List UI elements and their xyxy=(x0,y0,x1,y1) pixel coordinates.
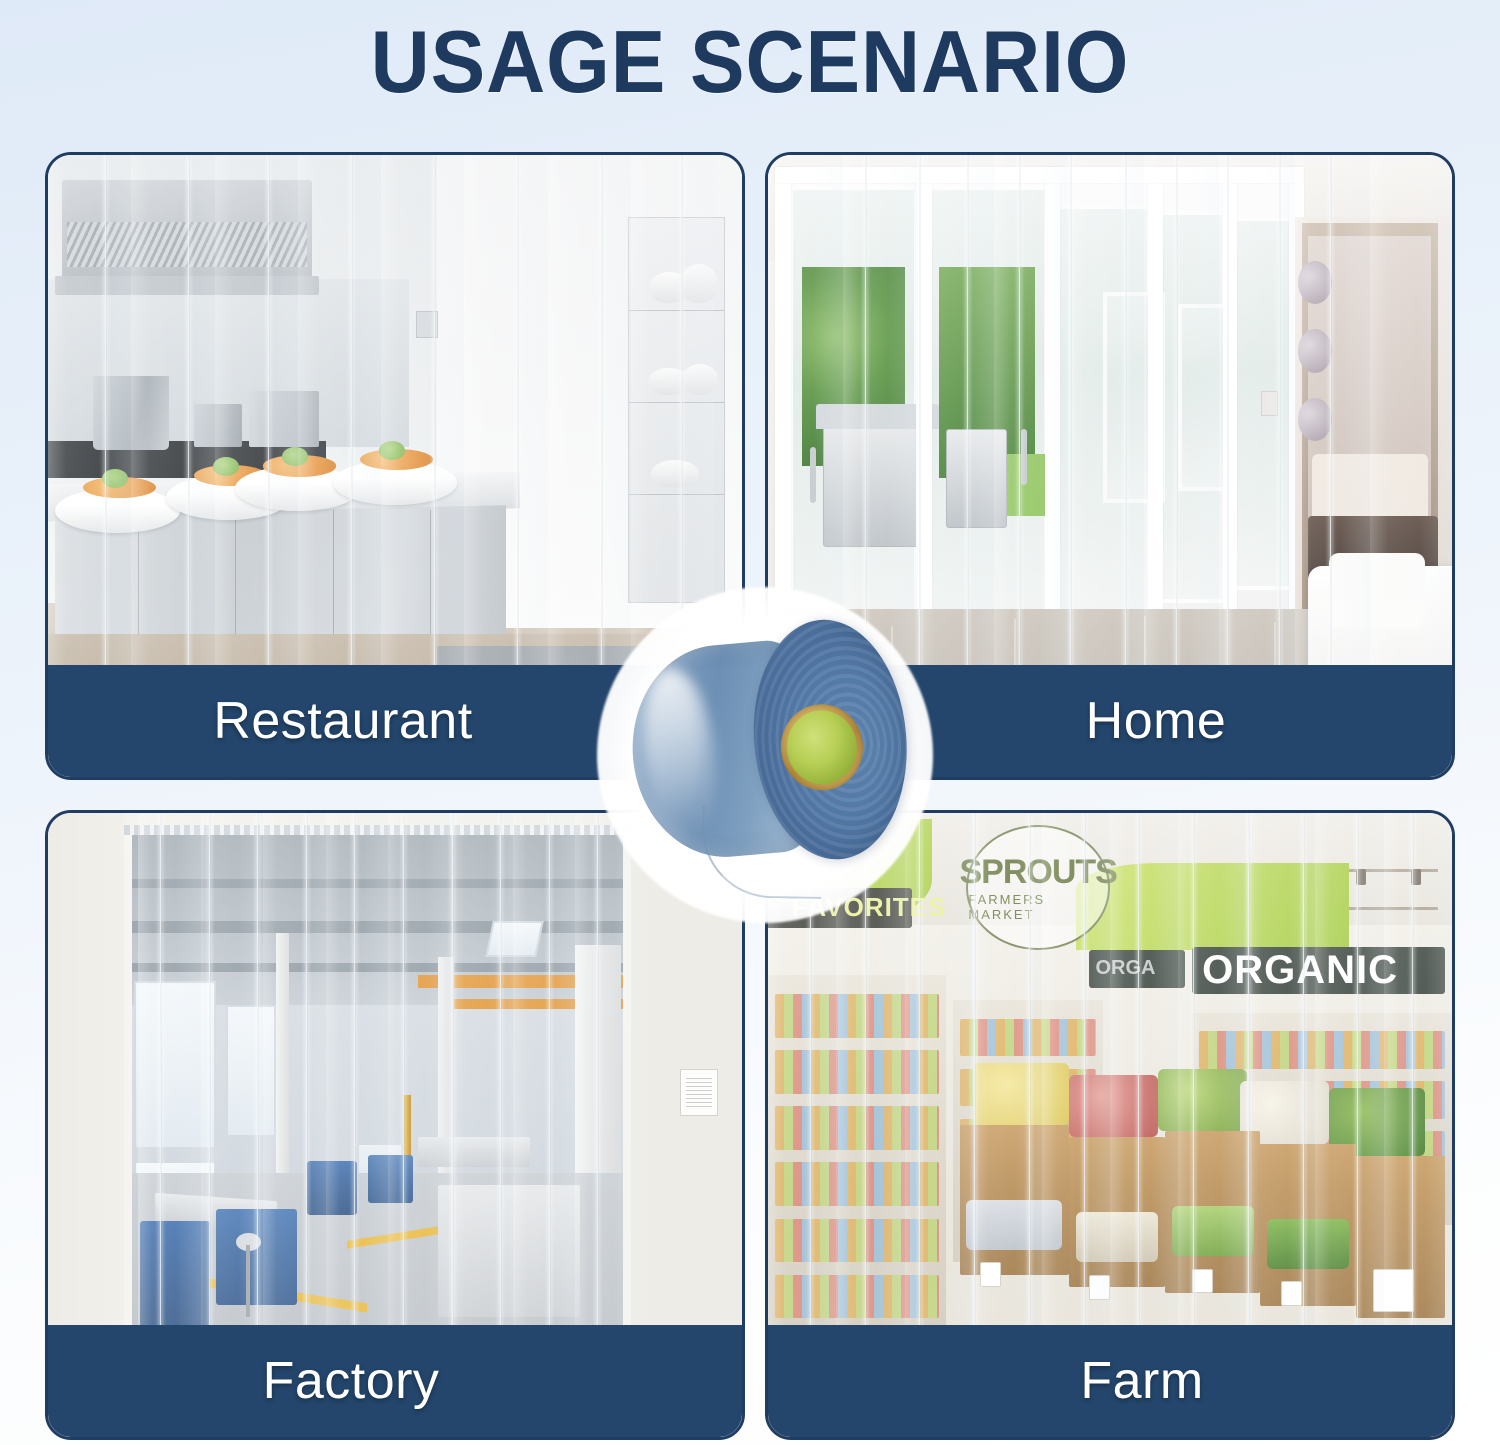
pvc-roll-icon xyxy=(622,606,914,897)
card-label-factory: Factory xyxy=(263,1351,440,1411)
page-title-container: USAGE SCENARIO xyxy=(0,14,1500,109)
card-label-bar-farm: Farm xyxy=(768,1325,1452,1437)
door-sticker-icon xyxy=(680,1069,718,1116)
page-title: USAGE SCENARIO xyxy=(53,14,1448,109)
card-label-farm: Farm xyxy=(1080,1351,1203,1411)
card-label-home: Home xyxy=(1086,691,1227,751)
farm-banner-right-label: ORGANIC xyxy=(1202,948,1398,993)
product-roll-badge[interactable] xyxy=(597,587,933,923)
card-label-restaurant: Restaurant xyxy=(213,691,472,751)
card-label-bar-factory: Factory xyxy=(48,1325,742,1437)
farm-banner-right-partial-label: ORGA xyxy=(1095,957,1155,980)
sprouts-logo-sub: FARMERS MARKET xyxy=(968,892,1108,922)
sprouts-logo-main: SPROUTS xyxy=(960,853,1117,892)
sprouts-logo: SPROUTS FARMERS MARKET xyxy=(966,825,1110,950)
range-hood-icon xyxy=(62,180,312,280)
